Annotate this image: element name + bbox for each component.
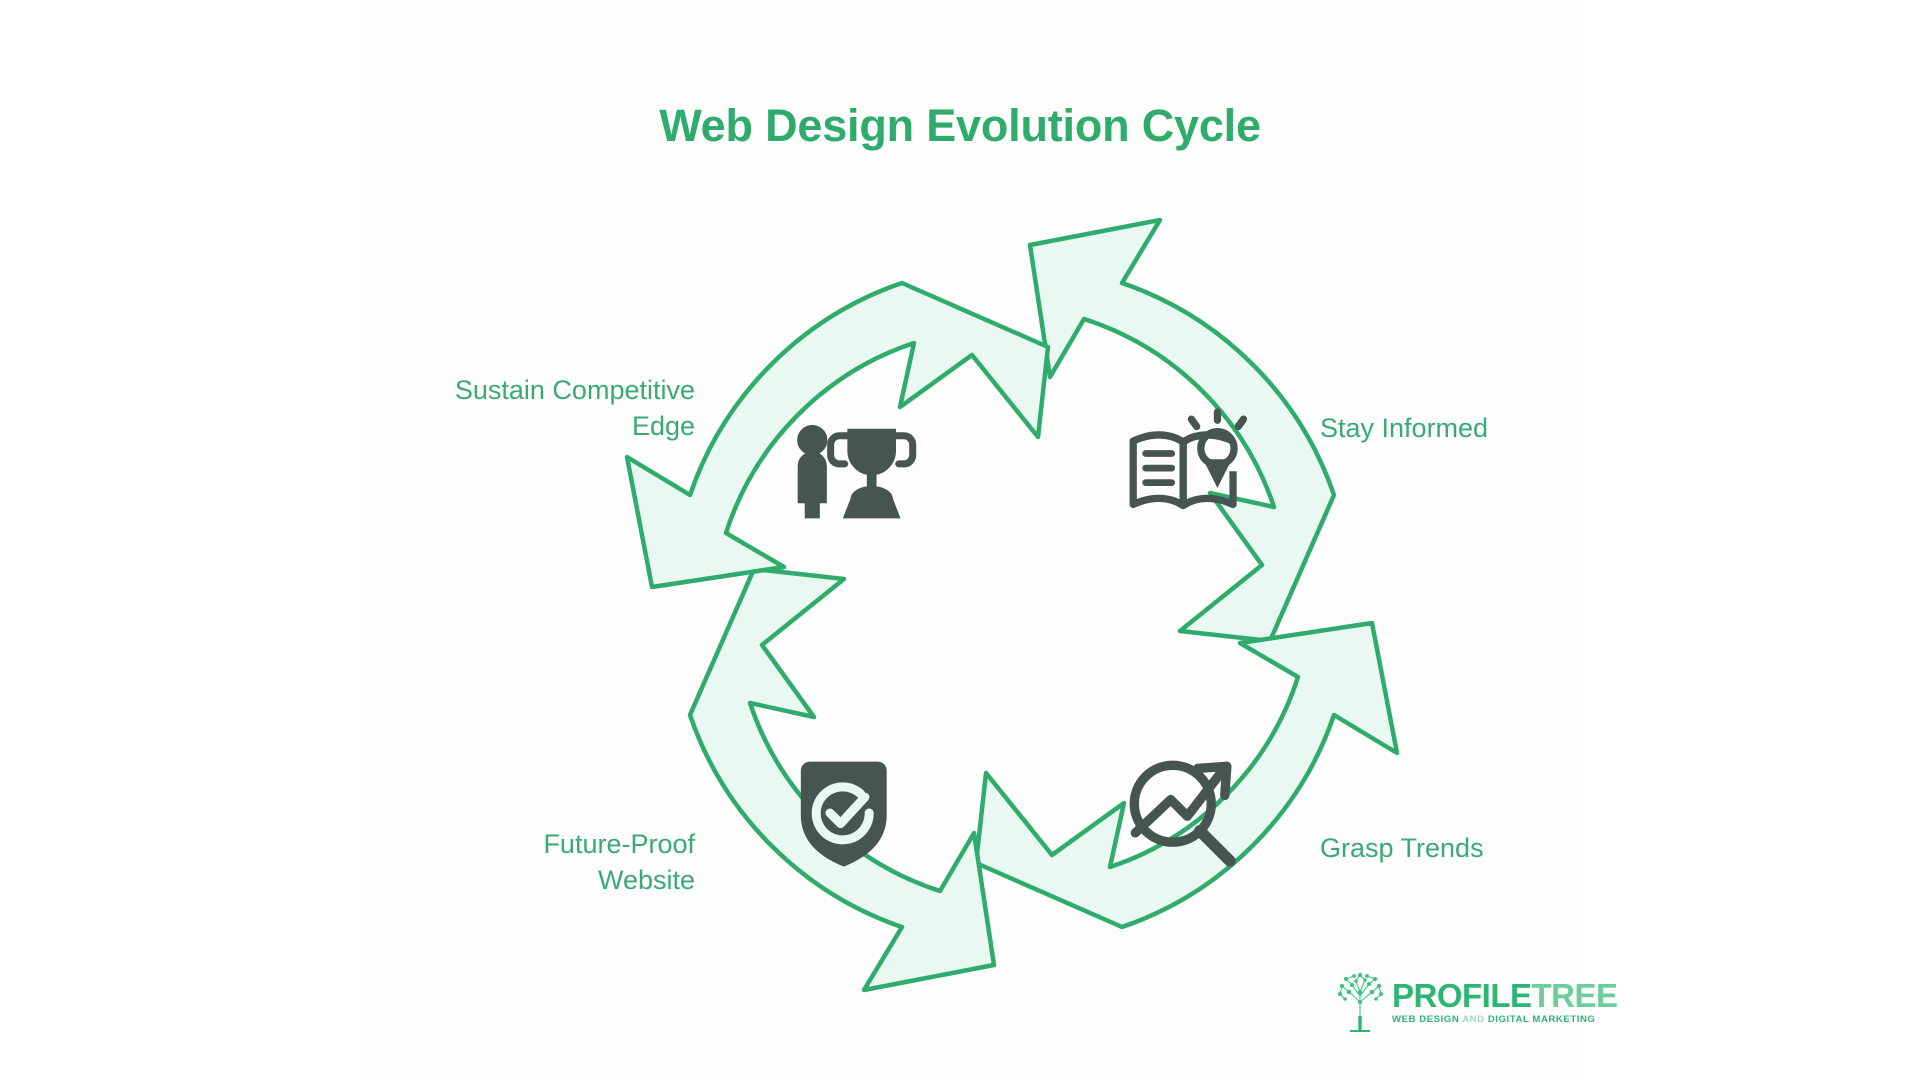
book-lightbulb-icon	[1133, 412, 1243, 506]
logo-tagline-part2: DIGITAL MARKETING	[1485, 1014, 1596, 1025]
tree-icon	[1332, 972, 1388, 1032]
logo-tagline-and: AND	[1462, 1014, 1484, 1025]
logo-word-profile: PROFILE	[1392, 977, 1532, 1014]
cycle-label-grasp-trends: Grasp Trends	[1320, 830, 1720, 866]
logo-tagline: WEB DESIGN AND DIGITAL MARKETING	[1392, 1013, 1618, 1026]
logo-wordmark: PROFILETREE	[1392, 979, 1618, 1013]
cycle-label-stay-informed: Stay Informed	[1320, 410, 1720, 446]
cycle-label-future-proof-website: Future-Proof Website	[300, 826, 695, 898]
cycle-arrow-segment-sustain-competitive-edge[interactable]	[976, 623, 1397, 927]
diagram-canvas: Web Design Evolution Cycle	[0, 0, 1920, 1080]
logo-tagline-part1: WEB DESIGN	[1392, 1014, 1462, 1025]
cycle-arrow-group	[627, 220, 1397, 990]
person-trophy-icon	[798, 426, 913, 518]
cycle-arrow-segment-stay-informed[interactable]	[1030, 220, 1334, 641]
logo-word-tree: TREE	[1532, 977, 1618, 1014]
profiletree-logo[interactable]: PROFILETREE WEB DESIGN AND DIGITAL MARKE…	[1332, 968, 1582, 1036]
cycle-label-sustain-competitive-edge: Sustain Competitive Edge	[300, 372, 695, 444]
cycle-diagram	[0, 0, 1920, 1080]
logo-text-block: PROFILETREE WEB DESIGN AND DIGITAL MARKE…	[1392, 979, 1618, 1026]
